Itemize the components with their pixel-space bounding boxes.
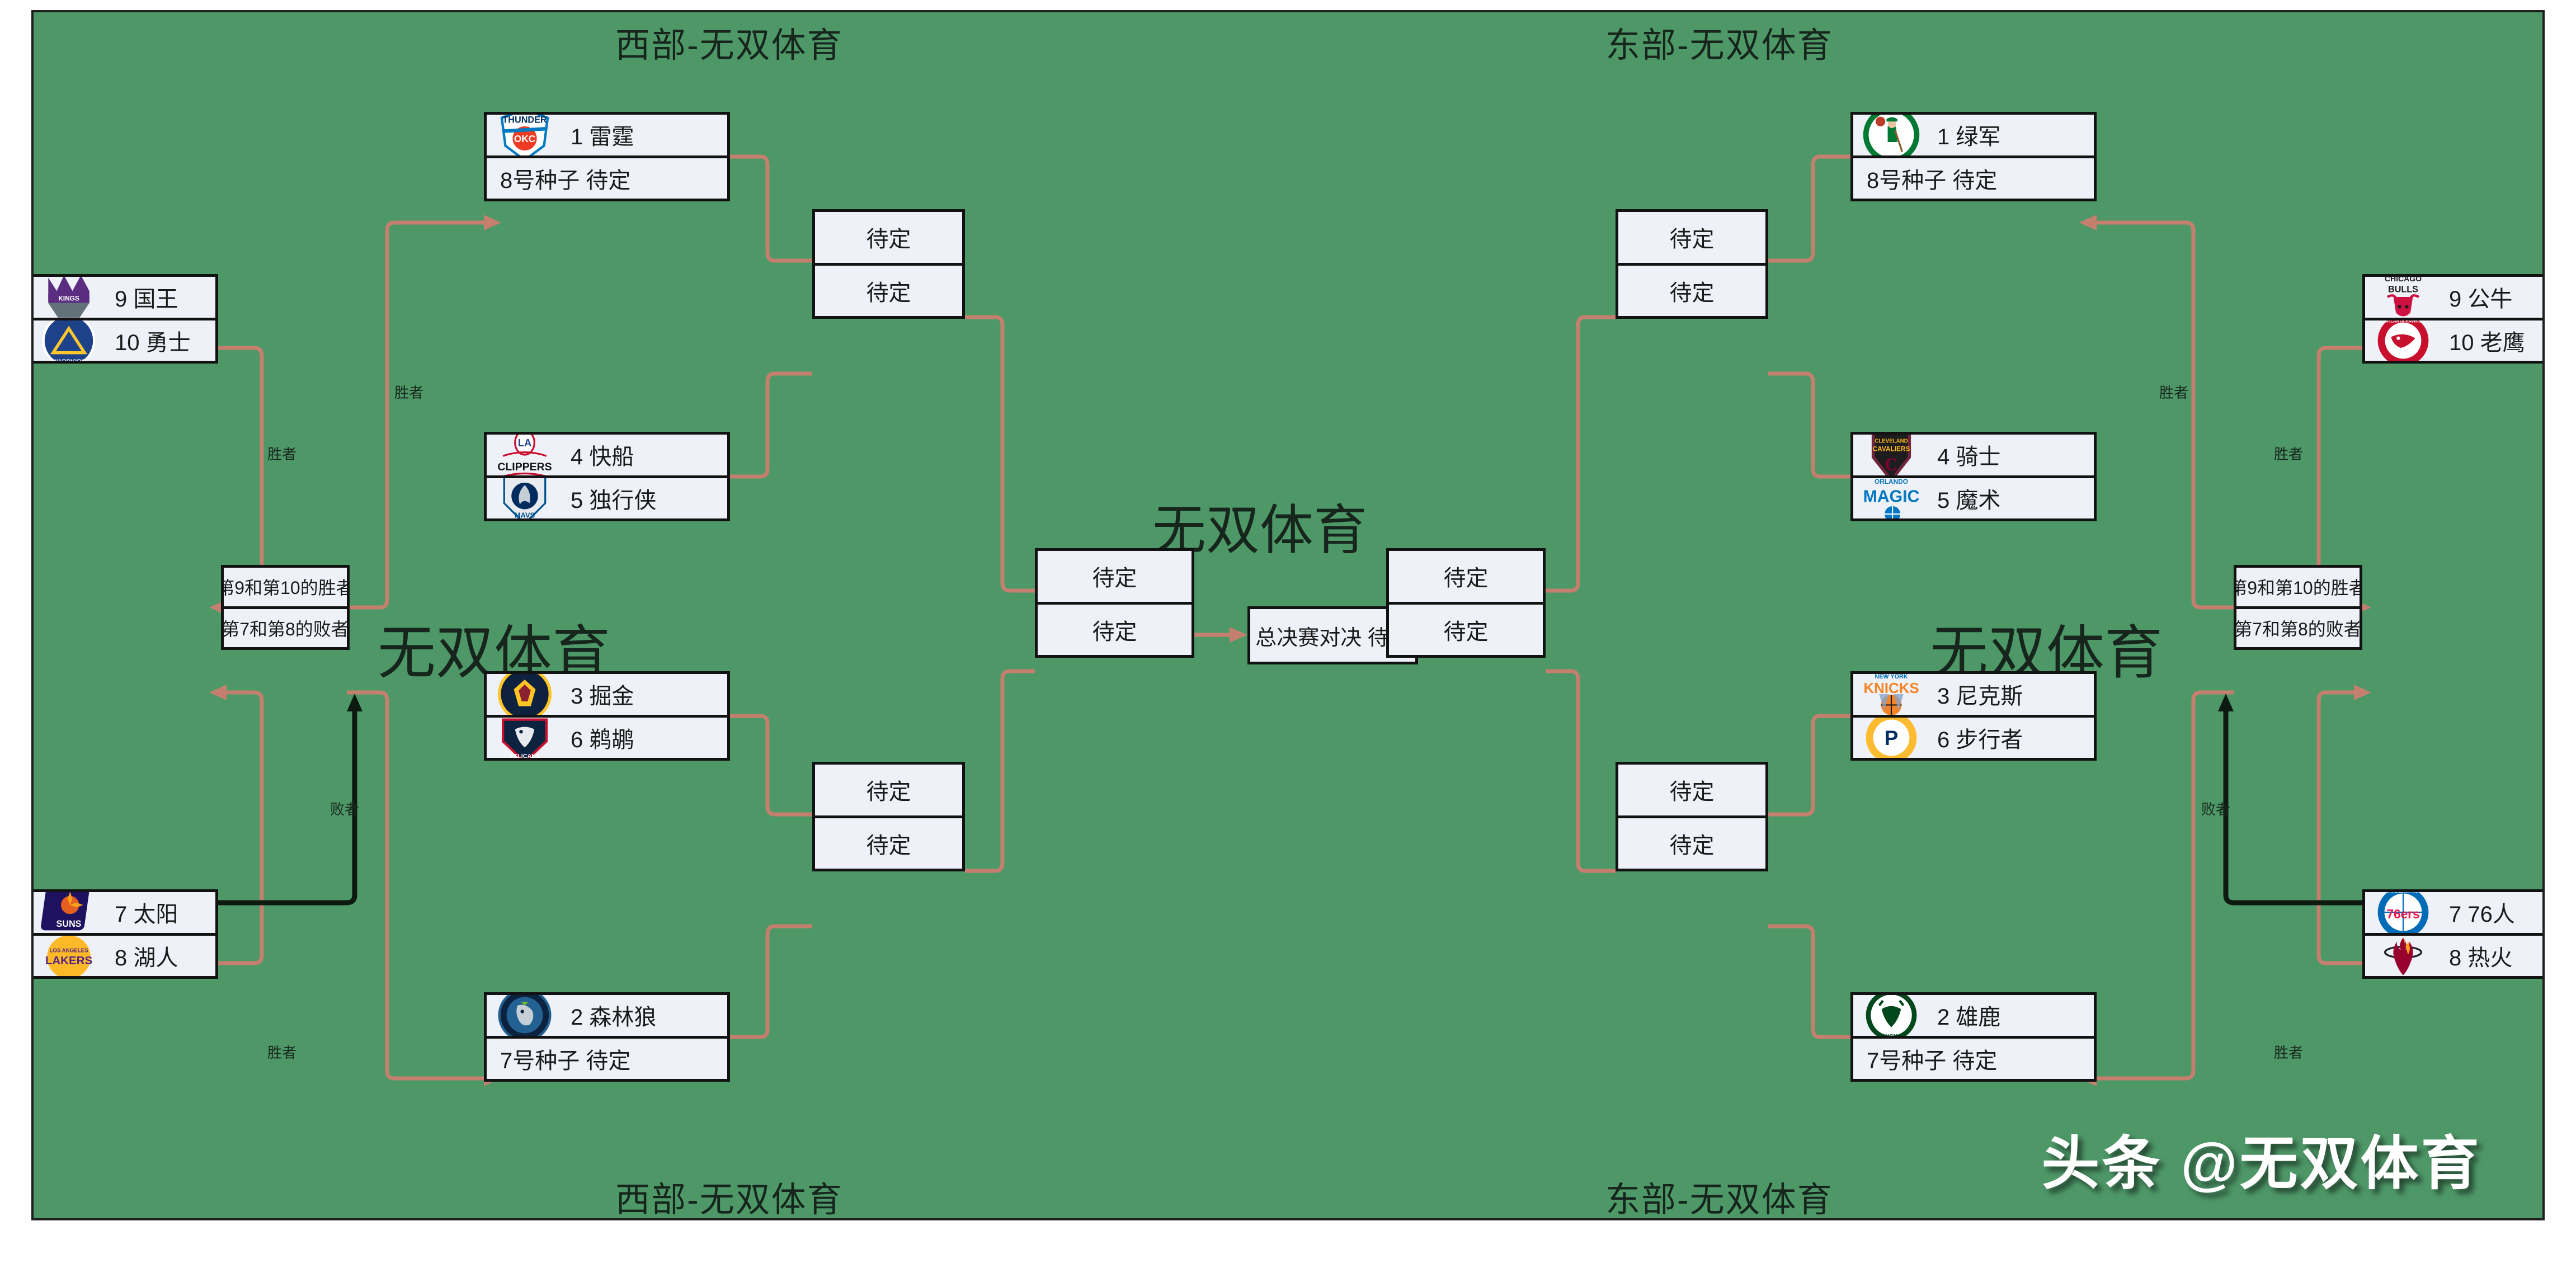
west-playin-upper-winner-label: 胜者 [267,443,296,464]
east-conference-final-slot-0[interactable]: 待定 [1389,551,1543,605]
mavericks-logo: MAVS [495,478,555,519]
east-semi-bottom-slot-0-label: 待定 [1670,774,1715,806]
east-playin-9-10-slot-1[interactable]: ATLANTA HAWKS 10 老鹰 [2365,320,2545,361]
east-semi-top-slot-0[interactable]: 待定 [1618,212,1765,266]
west-playin-lower-winner-label: 胜者 [267,1041,296,1062]
svg-text:THUNDER: THUNDER [502,115,547,125]
west-r1-m1-slot-0-label: 1 雷霆 [571,119,634,151]
timberwolves-logo [495,995,555,1039]
pelicans-logo: PELICANS [495,718,555,758]
cavaliers-logo: CLEVELAND CAVALIERS C [1861,435,1922,478]
west-conference-final-slot-1-label: 待定 [1092,614,1137,646]
west-playin-7-8[interactable]: SUNS 7 太阳 LOS ANGELES LAKERS 8 湖人 [31,889,218,979]
east-conference-final-slot-0-label: 待定 [1444,560,1489,592]
suns-logo: SUNS [39,892,99,936]
svg-text:PELICANS: PELICANS [510,753,540,758]
east-r1-m2-slot-0[interactable]: CLEVELAND CAVALIERS C 4 骑士 [1853,435,2094,478]
west-r1-m2[interactable]: LA CLIPPERS 4 快船 MAVS 5 独行侠 [484,432,730,521]
clippers-logo: LA CLIPPERS [495,435,555,478]
east-conference-title-bottom: 东部-无双体育 [1605,1171,1833,1220]
east-r1-m3-slot-0-label: 3 尼克斯 [1937,678,2023,710]
svg-text:ORLANDO: ORLANDO [1875,478,1908,485]
west-semi-bottom[interactable]: 待定 待定 [812,762,965,871]
west-r1-m1-slot-1-label: 8号种子 待定 [500,162,630,195]
east-r1-m2[interactable]: CLEVELAND CAVALIERS C 4 骑士 ORLANDO MAGIC… [1850,432,2097,521]
celtics-logo [1861,115,1922,158]
sixers-logo: 76ers PHILADELPHIA [2373,892,2433,936]
west-conference-final-slot-0[interactable]: 待定 [1038,551,1192,605]
bulls-logo: CHICAGO BULLS [2373,277,2433,320]
west-playin-lower-loser-label: 败者 [330,798,359,819]
east-playin-lower-loser-label: 败者 [2201,798,2230,819]
east-playin-7-8-slot-1[interactable]: HEAT 8 热火 [2365,936,2545,977]
east-r1-m3-slot-0[interactable]: NEW YORK KNICKS 3 尼克斯 [1853,674,2094,718]
west-playin-final[interactable]: 第9和第10的胜者 第7和第8的败者 [221,565,350,650]
west-semi-top-slot-1-label: 待定 [866,275,911,307]
svg-text:CAVALIERS: CAVALIERS [1873,445,1910,453]
east-r1-m1-slot-1-label: 8号种子 待定 [1867,162,1997,195]
east-semi-bottom-slot-1-label: 待定 [1670,827,1715,860]
svg-text:SUNS: SUNS [56,919,82,929]
east-playin-final-slot-0-label: 第9和第10的胜者 [2236,574,2360,600]
west-r1-m2-slot-0[interactable]: LA CLIPPERS 4 快船 [487,435,727,478]
knicks-logo: NEW YORK KNICKS [1861,674,1922,718]
west-playin-final-slot-0[interactable]: 第9和第10的胜者 [224,568,347,609]
thunder-logo: THUNDER OKC [495,115,555,158]
svg-text:CLEVELAND: CLEVELAND [1875,439,1908,445]
svg-text:PHILADELPHIA: PHILADELPHIA [2387,892,2419,894]
east-playin-upper-winner-label: 胜者 [2274,443,2303,464]
east-playin-9-10-slot-1-label: 10 老鹰 [2449,324,2525,357]
west-r1-m4-slot-0-label: 2 森林狼 [571,999,656,1031]
pacers-logo: P [1861,718,1922,758]
east-playin-7-8-slot-0[interactable]: 76ers PHILADELPHIA 7 76人 [2365,892,2545,936]
svg-text:CHICAGO: CHICAGO [2385,277,2422,283]
west-playin-7-8-slot-1-label: 8 湖人 [115,940,178,972]
svg-text:MAVS: MAVS [515,511,535,518]
west-playin-final-slot-1-label: 第7和第8的败者 [224,615,347,641]
west-playin-final-slot-0-label: 第9和第10的胜者 [224,574,347,600]
west-playin-7-8-slot-1[interactable]: LOS ANGELES LAKERS 8 湖人 [31,936,215,977]
east-r1-m2-slot-0-label: 4 骑士 [1937,439,2000,471]
svg-text:BUCKS: BUCKS [1882,1034,1901,1038]
east-playin-final-slot-1[interactable]: 第7和第8的败者 [2236,609,2360,648]
svg-text:MAGIC: MAGIC [1863,487,1920,506]
east-playin-lower-winner-label: 胜者 [2274,1041,2303,1062]
west-r1-m4[interactable]: 2 森林狼 7号种子 待定 [484,992,730,1082]
svg-text:LAKERS: LAKERS [45,954,92,967]
west-playin-final-slot-1[interactable]: 第7和第8的败者 [224,609,347,648]
west-semi-top[interactable]: 待定 待定 [812,209,965,319]
west-conference-title-top: 西部-无双体育 [615,17,843,67]
west-playin-9-10-slot-1[interactable]: WARRIORS 10 勇士 [31,320,215,361]
east-playin-final-winner-label: 胜者 [2159,381,2188,402]
west-r1-m1-slot-0[interactable]: THUNDER OKC 1 雷霆 [487,115,727,158]
svg-text:NEW YORK: NEW YORK [1875,674,1908,680]
east-r1-m1-slot-1[interactable]: 8号种子 待定 [1853,158,2094,199]
east-playin-9-10[interactable]: CHICAGO BULLS 9 公牛 ATLANTA HAWKS 10 [2362,274,2545,364]
east-r1-m4-slot-0-label: 2 雄鹿 [1937,999,2000,1031]
magic-logo: ORLANDO MAGIC [1861,478,1922,519]
west-r1-m3-slot-0-label: 3 掘金 [571,678,634,710]
svg-text:OKC: OKC [514,133,535,144]
west-playin-9-10[interactable]: KINGS 9 国王 WARRIORS 10 勇士 [31,274,218,364]
east-semi-top-slot-0-label: 待定 [1670,221,1715,253]
west-conference-final[interactable]: 待定 待定 [1035,548,1194,658]
east-playin-9-10-slot-0-label: 9 公牛 [2449,281,2512,313]
west-conference-title-bottom: 西部-无双体育 [615,1171,843,1220]
east-playin-7-8[interactable]: 76ers PHILADELPHIA 7 76人 HEAT 8 热火 [2362,889,2545,979]
east-r1-m2-slot-1[interactable]: ORLANDO MAGIC 5 魔术 [1853,478,2094,519]
west-semi-top-slot-0[interactable]: 待定 [815,212,962,266]
west-r1-m3[interactable]: 3 掘金 PELICANS 6 鹈鹕 [484,671,730,761]
hawks-logo: ATLANTA HAWKS [2373,320,2433,361]
east-r1-m4-slot-0[interactable]: BUCKS 2 雄鹿 [1853,995,2094,1039]
east-playin-final-slot-1-label: 第7和第8的败者 [2236,615,2360,641]
west-r1-m4-slot-1[interactable]: 7号种子 待定 [487,1039,727,1079]
west-semi-bottom-slot-1[interactable]: 待定 [815,818,962,869]
west-playin-9-10-slot-1-label: 10 勇士 [115,324,191,357]
west-r1-m4-slot-0[interactable]: 2 森林狼 [487,995,727,1039]
west-playin-final-winner-label: 胜者 [394,381,423,402]
svg-text:P: P [1885,727,1899,749]
west-r1-m2-slot-1-label: 5 独行侠 [571,482,656,515]
west-semi-top-slot-0-label: 待定 [866,221,911,253]
svg-text:ATLANTA HAWKS: ATLANTA HAWKS [2385,320,2421,324]
east-r1-m1-slot-0-label: 1 绿军 [1937,119,2000,151]
west-r1-m1[interactable]: THUNDER OKC 1 雷霆 8号种子 待定 [484,112,730,201]
bucks-logo: BUCKS [1861,995,1922,1039]
west-r1-m3-slot-1-label: 6 鹈鹕 [571,722,634,754]
east-r1-m1[interactable]: 1 绿军 8号种子 待定 [1850,112,2097,201]
east-semi-bottom-slot-1[interactable]: 待定 [1618,818,1765,869]
east-r1-m4[interactable]: BUCKS 2 雄鹿 7号种子 待定 [1850,992,2097,1082]
west-conference-final-slot-1[interactable]: 待定 [1038,605,1192,656]
west-r1-m2-slot-1[interactable]: MAVS 5 独行侠 [487,478,727,519]
west-semi-bottom-slot-0-label: 待定 [866,774,911,806]
west-r1-m3-slot-0[interactable]: 3 掘金 [487,674,727,718]
svg-text:LOS ANGELES: LOS ANGELES [49,947,88,954]
east-playin-9-10-slot-0[interactable]: CHICAGO BULLS 9 公牛 [2365,277,2545,320]
west-semi-bottom-slot-1-label: 待定 [866,827,911,860]
east-r1-m4-slot-1[interactable]: 7号种子 待定 [1853,1039,2094,1079]
east-semi-bottom[interactable]: 待定 待定 [1616,762,1768,871]
east-r1-m2-slot-1-label: 5 魔术 [1937,482,2000,515]
svg-text:KINGS: KINGS [58,295,79,303]
east-r1-m3-slot-1-label: 6 步行者 [1937,722,2023,754]
east-r1-m4-slot-1-label: 7号种子 待定 [1867,1043,1997,1075]
lakers-logo: LOS ANGELES LAKERS [39,936,99,977]
west-conference-final-slot-0-label: 待定 [1092,560,1137,592]
west-r1-m3-slot-1[interactable]: PELICANS 6 鹈鹕 [487,718,727,758]
east-conference-final-slot-1-label: 待定 [1444,614,1489,646]
svg-text:LA: LA [518,437,531,449]
svg-text:WARRIORS: WARRIORS [52,359,85,361]
east-semi-top-slot-1-label: 待定 [1670,275,1715,307]
headline-watermark-badge: 头条 @无双体育 [1980,1097,2542,1218]
heat-logo: HEAT [2373,936,2433,977]
east-conference-final[interactable]: 待定 待定 [1386,548,1546,658]
west-r1-m2-slot-0-label: 4 快船 [571,439,634,471]
east-semi-top-slot-1[interactable]: 待定 [1618,266,1765,317]
west-playin-9-10-slot-0[interactable]: KINGS 9 国王 [31,277,215,320]
east-conference-title-top: 东部-无双体育 [1605,17,1833,67]
west-r1-m1-slot-1[interactable]: 8号种子 待定 [487,158,727,199]
west-semi-top-slot-1[interactable]: 待定 [815,266,962,317]
east-semi-bottom-slot-0[interactable]: 待定 [1618,765,1765,818]
east-conference-final-slot-1[interactable]: 待定 [1389,605,1543,656]
east-r1-m3[interactable]: NEW YORK KNICKS 3 尼克斯 P 6 步行者 [1850,671,2097,761]
west-playin-9-10-slot-0-label: 9 国王 [115,281,178,313]
kings-logo: KINGS [39,277,99,320]
svg-text:76ers: 76ers [2386,907,2419,921]
svg-text:KNICKS: KNICKS [1863,681,1919,696]
east-playin-final[interactable]: 第9和第10的胜者 第7和第8的败者 [2234,565,2362,650]
east-r1-m3-slot-1[interactable]: P 6 步行者 [1853,718,2094,758]
west-semi-bottom-slot-0[interactable]: 待定 [815,765,962,818]
west-r1-m4-slot-1-label: 7号种子 待定 [500,1043,630,1075]
svg-text:BULLS: BULLS [2388,285,2418,295]
east-playin-7-8-slot-1-label: 8 热火 [2449,940,2512,972]
west-playin-7-8-slot-0-label: 7 太阳 [115,896,178,928]
bracket-screenshot: 西部-无双体育 东部-无双体育 西部-无双体育 东部-无双体育 无双体育 无双体… [0,0,2576,1273]
east-r1-m1-slot-0[interactable]: 1 绿军 [1853,115,2094,158]
east-playin-7-8-slot-0-label: 7 76人 [2449,896,2515,928]
east-playin-final-slot-0[interactable]: 第9和第10的胜者 [2236,568,2360,609]
nuggets-logo [495,674,555,718]
warriors-logo: WARRIORS [39,320,99,361]
east-semi-top[interactable]: 待定 待定 [1616,209,1768,319]
svg-text:C: C [1885,455,1897,475]
west-playin-7-8-slot-0[interactable]: SUNS 7 太阳 [31,892,215,936]
svg-text:CLIPPERS: CLIPPERS [497,461,552,473]
bracket-canvas: 西部-无双体育 东部-无双体育 西部-无双体育 东部-无双体育 无双体育 无双体… [31,10,2545,1220]
